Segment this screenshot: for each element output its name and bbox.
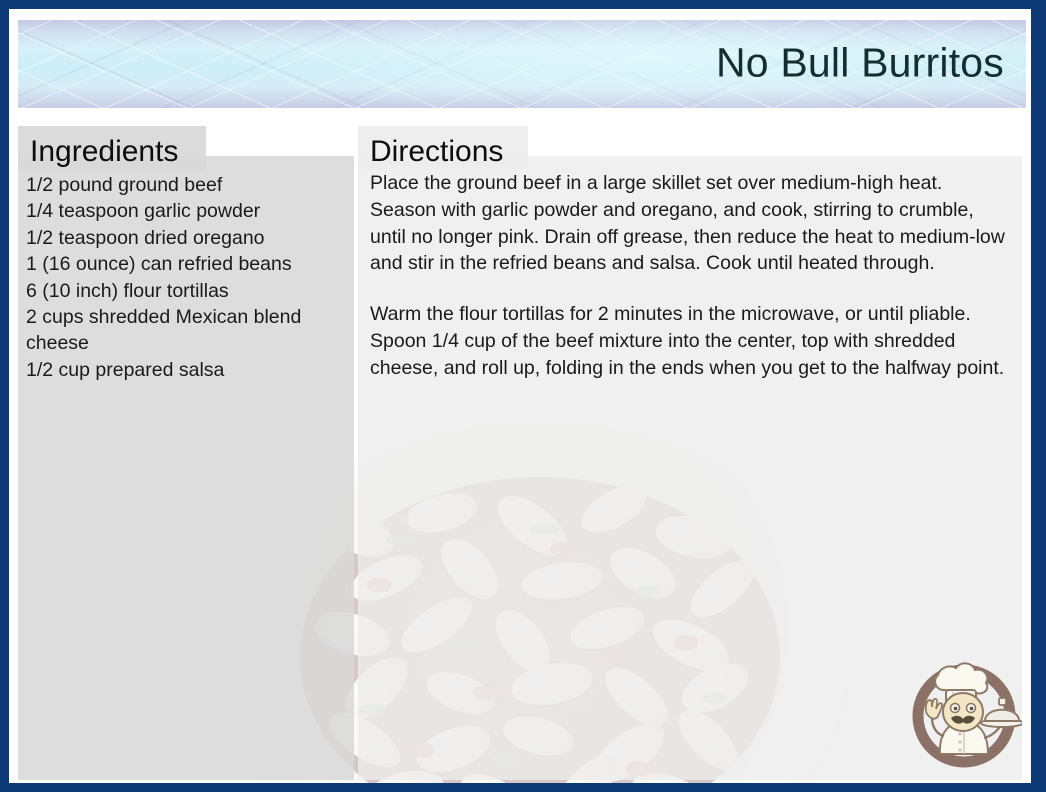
ingredient-list: 1/2 pound ground beef 1/4 teaspoon garli… (26, 172, 348, 383)
directions-paragraph: Place the ground beef in a large skillet… (370, 170, 1006, 277)
directions-paragraph: Warm the flour tortillas for 2 minutes i… (370, 301, 1006, 381)
ingredients-tab-label: Ingredients (30, 134, 178, 170)
list-item: 2 cups shredded Mexican blend cheese (26, 304, 348, 357)
frame-border-top (0, 0, 1046, 9)
chef-icon (906, 650, 1022, 768)
list-item: 1/4 teaspoon garlic powder (26, 198, 348, 224)
ingredients-tab[interactable]: Ingredients (18, 126, 206, 170)
directions-tab[interactable]: Directions (358, 126, 528, 170)
directions-tab-label: Directions (370, 134, 503, 170)
page-title: No Bull Burritos (716, 40, 1004, 87)
recipe-slide: No Bull Burritos Ingredients 1/2 pound g… (0, 0, 1046, 792)
list-item: 1/2 pound ground beef (26, 172, 348, 198)
chef-logo (906, 650, 1022, 768)
list-item: 6 (10 inch) flour tortillas (26, 278, 348, 304)
frame-border-bottom (0, 783, 1046, 792)
list-item: 1 (16 ounce) can refried beans (26, 251, 348, 277)
directions-text: Place the ground beef in a large skillet… (370, 170, 1006, 406)
frame-border-right (1031, 0, 1046, 792)
list-item: 1/2 cup prepared salsa (26, 357, 348, 383)
frame-border-left (0, 0, 9, 792)
header-banner: No Bull Burritos (18, 20, 1026, 108)
list-item: 1/2 teaspoon dried oregano (26, 225, 348, 251)
ingredients-panel: Ingredients 1/2 pound ground beef 1/4 te… (18, 126, 354, 780)
